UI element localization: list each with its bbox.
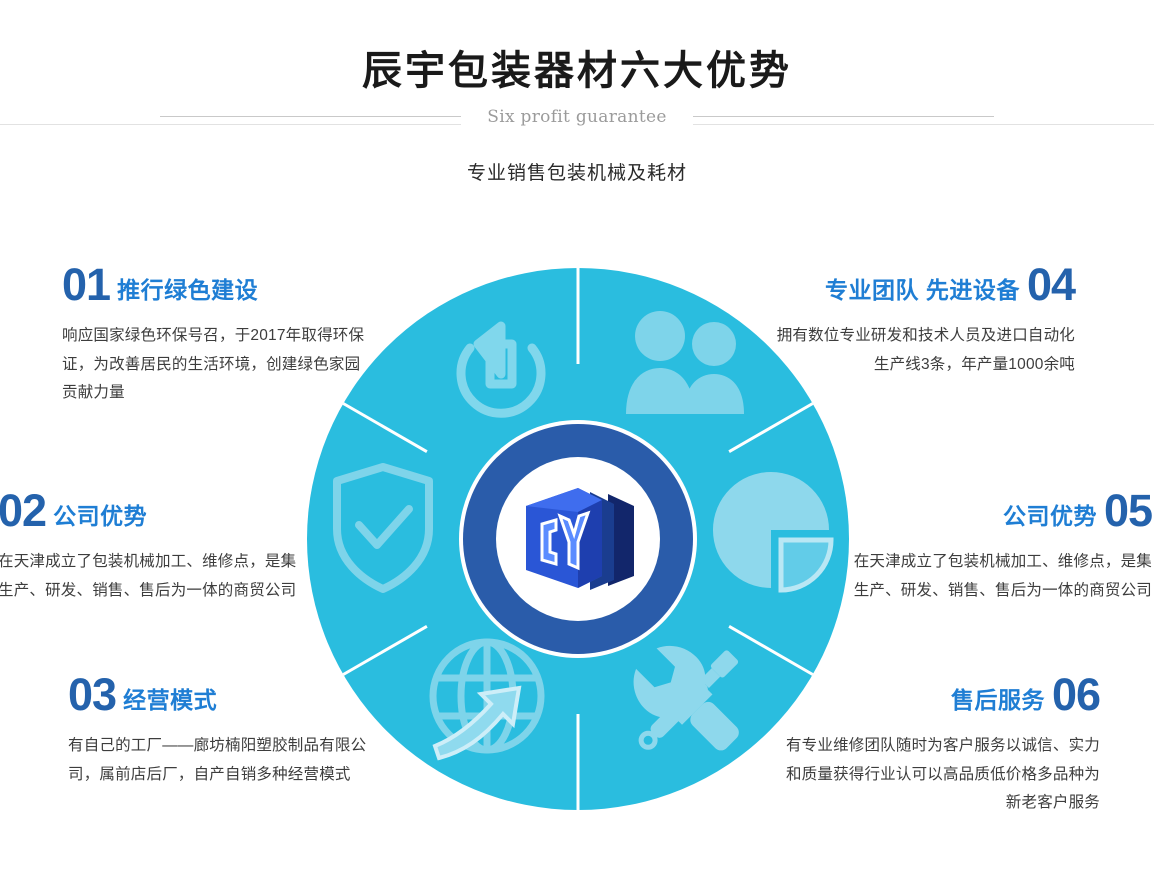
feature-body-06: 有专业维修团队随时为客户服务以诚信、实力和质量获得行业认可以高品质低价格多品种为… <box>782 732 1100 818</box>
feature-item-03: 03经营模式 有自己的工厂——廊坊楠阳塑胶制品有限公司，属前店后厂，自产自销多种… <box>68 672 388 789</box>
package-box-icon <box>516 484 640 594</box>
feature-heading-05: 公司优势05 <box>852 488 1152 533</box>
six-segment-donut <box>307 268 849 810</box>
subtitle-chinese: 专业销售包装机械及耗材 <box>0 158 1154 185</box>
feature-item-01: 01推行绿色建设 响应国家绿色环保号召，于2017年取得环保证，为改善居民的生活… <box>62 262 374 408</box>
feature-title-04: 专业团队 先进设备 <box>825 277 1020 303</box>
infographic-page: 辰宇包装器材六大优势 Six profit guarantee 专业销售包装机械… <box>0 0 1154 894</box>
subtitle-english: Six profit guarantee <box>0 107 1154 127</box>
feature-body-02: 在天津成立了包装机械加工、维修点，是集生产、研发、销售、售后为一体的商贸公司 <box>0 548 298 605</box>
center-logo-disc <box>496 457 660 621</box>
feature-heading-06: 售后服务06 <box>782 672 1100 717</box>
feature-number-03: 03 <box>68 669 116 720</box>
subtitle-english-text: Six profit guarantee <box>461 107 692 127</box>
feature-body-05: 在天津成立了包装机械加工、维修点，是集生产、研发、销售、售后为一体的商贸公司 <box>852 548 1152 605</box>
feature-item-05: 公司优势05 在天津成立了包装机械加工、维修点，是集生产、研发、销售、售后为一体… <box>852 488 1152 605</box>
feature-title-06: 售后服务 <box>951 687 1045 713</box>
feature-number-05: 05 <box>1104 485 1152 536</box>
center-logo-hub <box>463 424 693 654</box>
feature-heading-01: 01推行绿色建设 <box>62 262 374 307</box>
feature-title-03: 经营模式 <box>123 687 217 713</box>
feature-title-05: 公司优势 <box>1003 503 1097 529</box>
feature-number-01: 01 <box>62 259 110 310</box>
feature-item-06: 售后服务06 有专业维修团队随时为客户服务以诚信、实力和质量获得行业认可以高品质… <box>782 672 1100 818</box>
feature-number-04: 04 <box>1027 259 1075 310</box>
feature-heading-03: 03经营模式 <box>68 672 388 717</box>
feature-heading-04: 专业团队 先进设备04 <box>775 262 1075 307</box>
feature-title-02: 公司优势 <box>53 503 147 529</box>
feature-body-04: 拥有数位专业研发和技术人员及进口自动化生产线3条，年产量1000余吨 <box>775 322 1075 379</box>
feature-title-01: 推行绿色建设 <box>117 277 258 303</box>
feature-number-02: 02 <box>0 485 46 536</box>
feature-body-01: 响应国家绿色环保号召，于2017年取得环保证，为改善居民的生活环境，创建绿色家园… <box>62 322 374 408</box>
feature-body-03: 有自己的工厂——廊坊楠阳塑胶制品有限公司，属前店后厂，自产自销多种经营模式 <box>68 732 388 789</box>
feature-heading-02: 02公司优势 <box>0 488 298 533</box>
feature-item-04: 专业团队 先进设备04 拥有数位专业研发和技术人员及进口自动化生产线3条，年产量… <box>775 262 1075 379</box>
feature-item-02: 02公司优势 在天津成立了包装机械加工、维修点，是集生产、研发、销售、售后为一体… <box>0 488 298 605</box>
feature-number-06: 06 <box>1052 669 1100 720</box>
page-title: 辰宇包装器材六大优势 <box>0 38 1154 96</box>
